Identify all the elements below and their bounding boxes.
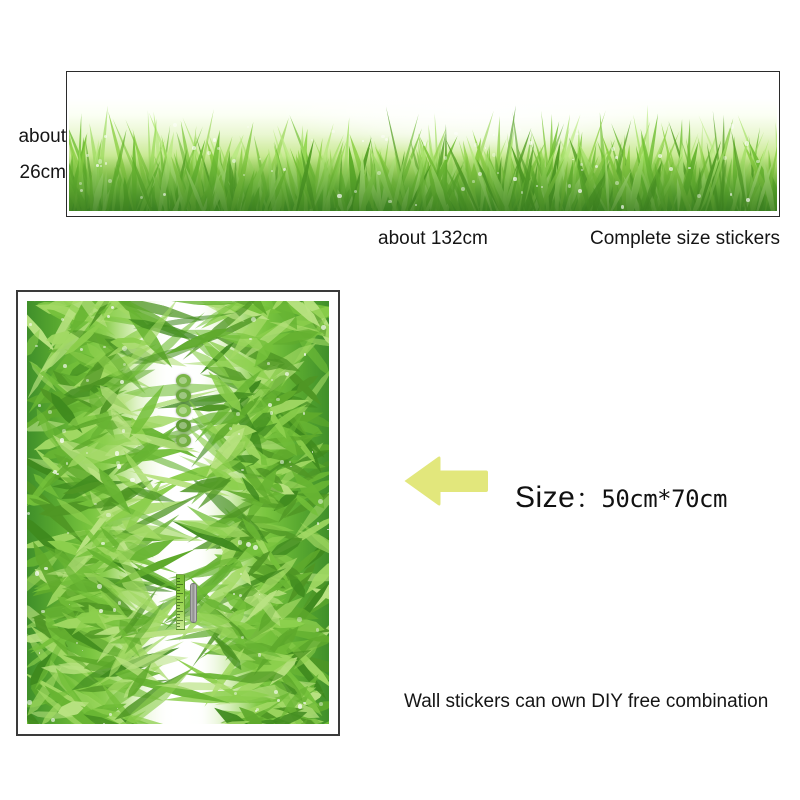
grass-banner-frame: [66, 71, 780, 217]
dew-highlight: [246, 542, 251, 547]
dew-highlight: [101, 542, 104, 545]
banner-height-label-line2: 26cm: [8, 155, 66, 191]
dew-highlight: [100, 165, 102, 167]
dew-highlight: [163, 193, 166, 196]
ruler-tick: [177, 599, 180, 600]
dew-highlight: [578, 189, 582, 193]
ruler-tick: [177, 611, 183, 612]
dew-highlight: [267, 362, 270, 365]
dew-highlight: [130, 478, 134, 482]
size-line: Size ： 50cm*70cm: [515, 481, 727, 515]
dew-highlight: [44, 567, 47, 570]
dew-highlight: [38, 404, 41, 407]
dew-highlight: [576, 133, 579, 136]
dew-highlight: [236, 412, 240, 416]
complete-size-caption: Complete size stickers: [590, 228, 780, 250]
ruler-strip-icon: [176, 574, 185, 630]
dew-highlight: [274, 690, 278, 694]
dew-highlight: [115, 451, 120, 456]
dew-highlight: [492, 153, 496, 157]
dew-highlight: [513, 177, 516, 180]
dew-highlight: [745, 141, 749, 145]
dew-highlight: [723, 156, 727, 160]
dew-highlight: [388, 200, 391, 203]
dew-highlight: [258, 653, 262, 657]
dew-highlight: [472, 180, 475, 183]
dew-highlight: [271, 379, 273, 381]
banner-height-label: about 26cm: [8, 119, 66, 191]
dew-highlight: [497, 172, 499, 174]
dew-highlight: [103, 723, 105, 724]
dew-highlight: [730, 124, 734, 128]
banner-height-label-line1: about: [8, 119, 66, 155]
dew-highlight: [251, 317, 256, 322]
dew-highlight: [41, 610, 44, 613]
dew-highlight: [658, 154, 662, 158]
ruler-tick: [177, 584, 183, 585]
dew-highlight: [454, 132, 457, 135]
dew-highlight: [60, 438, 65, 443]
badge-2-icon: [176, 389, 191, 402]
bamboo-poster-photo: [27, 301, 329, 724]
dew-highlight: [611, 147, 615, 151]
ruler-tick: [177, 623, 180, 624]
dew-highlight: [259, 158, 261, 160]
dew-highlight: [289, 461, 291, 463]
dew-highlight: [238, 540, 242, 544]
dew-highlight: [536, 185, 538, 187]
grass-banner-photo: [69, 74, 777, 211]
dew-highlight: [270, 411, 273, 414]
dew-highlight: [541, 186, 543, 188]
banner-width-label: about 132cm: [378, 228, 488, 250]
badge-1-icon: [176, 374, 191, 387]
ruler-tick: [177, 614, 180, 615]
dew-highlight: [669, 167, 673, 171]
diy-caption: Wall stickers can own DIY free combinati…: [404, 691, 768, 713]
dew-highlight: [280, 460, 284, 464]
dew-highlight: [241, 469, 244, 472]
dew-highlight: [285, 372, 289, 376]
badge-column: [176, 374, 192, 447]
dew-highlight: [297, 617, 302, 622]
dew-highlight: [99, 609, 103, 613]
ruler-tick: [177, 587, 180, 588]
dew-highlight: [35, 571, 39, 575]
ruler-tick: [177, 626, 180, 627]
ruler-tick: [177, 602, 183, 603]
size-value: 50cm*70cm: [601, 485, 727, 513]
dew-highlight: [113, 608, 117, 612]
dew-highlight: [256, 708, 259, 711]
dew-highlight: [615, 156, 617, 158]
ruler-label-bar: [190, 583, 197, 623]
left-pointing-arrow: [402, 453, 490, 508]
dew-highlight: [122, 429, 125, 432]
dew-highlight: [756, 160, 759, 163]
dew-highlight: [298, 704, 302, 708]
bamboo-poster-frame: [16, 290, 340, 736]
dew-highlight: [249, 338, 251, 340]
ruler-tick: [177, 581, 180, 582]
dew-highlight: [518, 128, 521, 131]
dew-highlight: [423, 142, 426, 145]
dew-highlight: [122, 346, 127, 351]
dew-highlight: [746, 198, 750, 202]
dew-highlight: [27, 700, 32, 705]
dew-highlight: [229, 427, 232, 430]
dew-highlight: [192, 146, 196, 150]
dew-highlight: [117, 464, 121, 468]
dew-highlight: [385, 138, 388, 141]
size-label: Size: [515, 481, 575, 515]
dew-highlight: [62, 429, 66, 433]
dew-highlight: [337, 194, 341, 198]
dew-highlight: [238, 433, 240, 435]
dew-highlight: [331, 130, 335, 134]
dew-highlight: [232, 159, 236, 163]
dew-highlight: [461, 187, 465, 191]
dew-highlight: [580, 163, 583, 166]
dew-highlight: [318, 499, 323, 504]
dew-highlight: [217, 147, 220, 150]
dew-highlight: [96, 164, 99, 167]
dew-highlight: [98, 159, 102, 163]
dew-highlight: [271, 170, 273, 172]
dew-highlight: [103, 346, 105, 348]
dew-highlight: [303, 702, 305, 704]
ruler-tick: [177, 590, 180, 591]
dew-highlight: [253, 545, 258, 550]
size-colon: ：: [576, 482, 598, 514]
dew-highlight: [86, 154, 88, 156]
ruler-tick: [177, 620, 183, 621]
dew-highlight: [240, 573, 242, 575]
badge-5-icon: [176, 434, 191, 447]
dew-highlight: [697, 194, 701, 198]
dew-highlight: [63, 364, 67, 368]
badge-3-icon: [176, 404, 191, 417]
ruler-tick: [177, 617, 180, 618]
ruler-tick: [177, 596, 180, 597]
dew-highlight: [48, 410, 52, 414]
ruler-tick: [177, 593, 183, 594]
dew-highlight: [105, 162, 107, 164]
dew-highlight: [86, 379, 89, 382]
ruler-tick: [177, 608, 180, 609]
dew-highlight: [61, 318, 64, 321]
dew-highlight: [303, 412, 306, 415]
dew-highlight: [276, 398, 280, 402]
badge-4-icon: [176, 419, 191, 432]
dew-highlight: [173, 123, 177, 127]
dew-highlight: [111, 306, 114, 309]
dew-highlight: [243, 174, 245, 176]
ruler-tick: [177, 605, 180, 606]
dew-highlight: [321, 325, 326, 330]
dew-highlight: [521, 191, 523, 193]
grass-base-shadow: [69, 156, 777, 211]
dew-highlight: [97, 584, 102, 589]
dew-highlight: [29, 323, 32, 326]
dew-highlight: [730, 193, 733, 196]
ruler-tick: [177, 578, 180, 579]
